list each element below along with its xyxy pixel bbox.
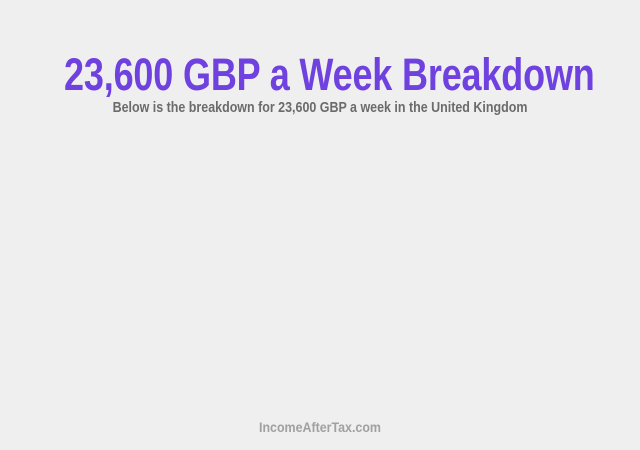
site-footer-brand: IncomeAfterTax.com xyxy=(26,420,615,436)
breakdown-page: 23,600 GBP a Week Breakdown Below is the… xyxy=(0,0,640,450)
page-title: 23,600 GBP a Week Breakdown xyxy=(64,50,576,100)
breakdown-content-area xyxy=(0,112,640,412)
